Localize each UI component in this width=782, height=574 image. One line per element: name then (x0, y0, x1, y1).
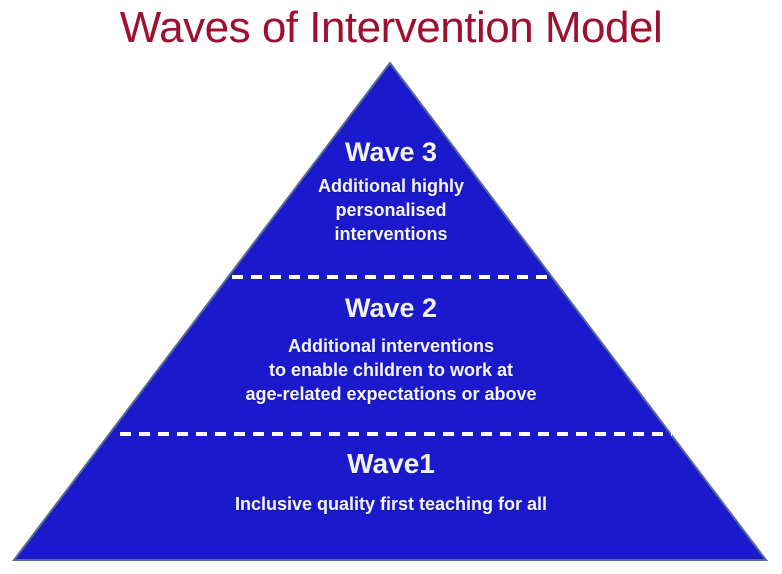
wave1-body-line-1: Inclusive quality first teaching for all (0, 492, 782, 516)
wave2-body-line-2: to enable children to work at (0, 358, 782, 382)
wave3-body-line-3: interventions (0, 222, 782, 246)
wave3-heading: Wave 3 (0, 136, 782, 168)
wave2-body: Additional interventions to enable child… (0, 334, 782, 406)
diagram-canvas: Waves of Intervention Model Wave 3 Addit… (0, 0, 782, 574)
pyramid-level-wave2: Wave 2 Additional interventions to enabl… (0, 292, 782, 406)
wave2-heading: Wave 2 (0, 292, 782, 324)
wave2-body-line-1: Additional interventions (0, 334, 782, 358)
pyramid-level-wave1: Wave1 Inclusive quality first teaching f… (0, 448, 782, 516)
wave2-body-line-3: age-related expectations or above (0, 382, 782, 406)
wave1-heading: Wave1 (0, 448, 782, 480)
wave3-body-line-2: personalised (0, 198, 782, 222)
pyramid-level-wave3: Wave 3 Additional highly personalised in… (0, 136, 782, 246)
wave3-body: Additional highly personalised intervent… (0, 174, 782, 246)
wave3-body-line-1: Additional highly (0, 174, 782, 198)
wave1-body: Inclusive quality first teaching for all (0, 492, 782, 516)
